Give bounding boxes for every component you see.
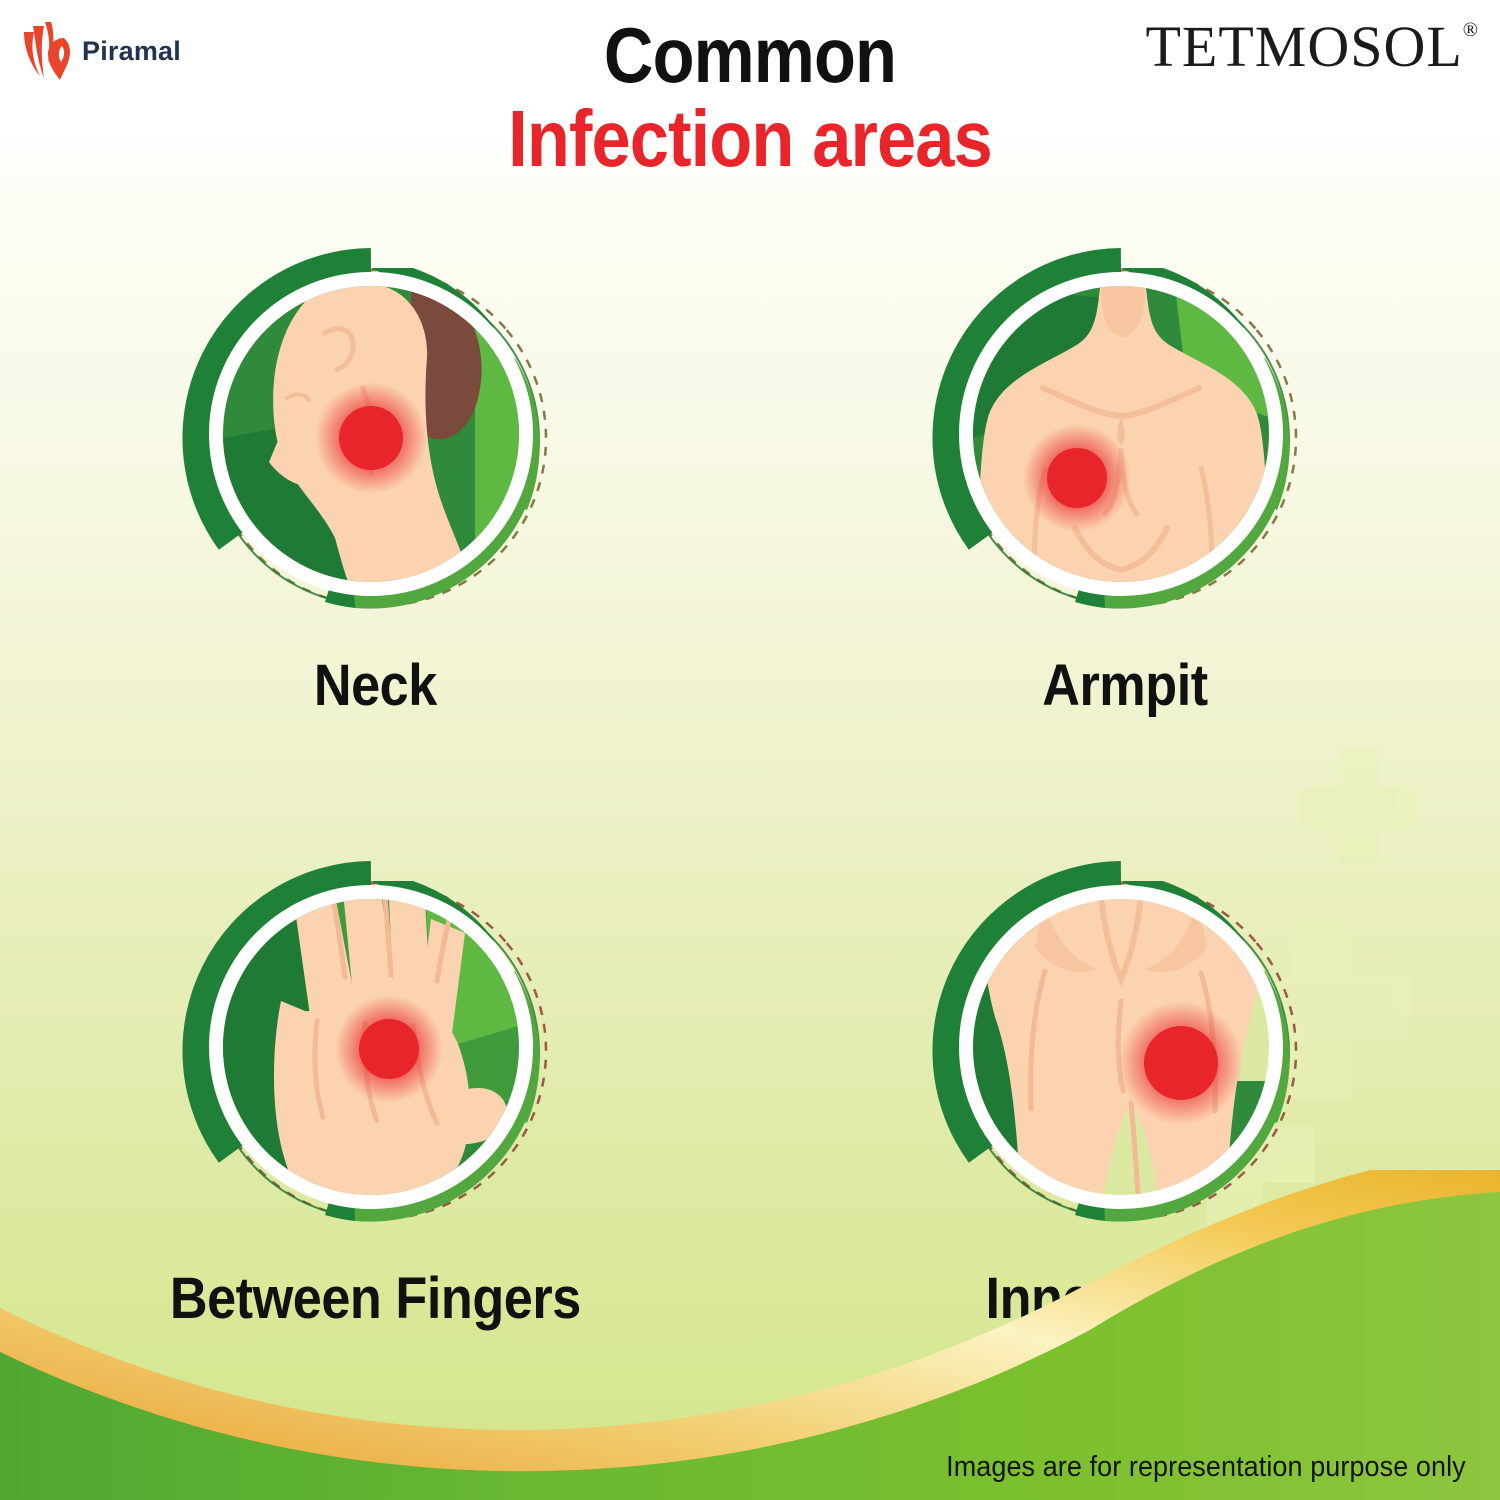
neck-badge <box>175 238 575 638</box>
grid-row-1: Neck <box>0 238 1500 719</box>
card-armpit[interactable]: Armpit <box>750 238 1500 719</box>
armpit-badge <box>925 238 1325 638</box>
infection-areas-grid: Neck <box>0 238 1500 1332</box>
disclaimer-text: Images are for representation purpose on… <box>946 1451 1466 1484</box>
title-line-1: Common <box>90 16 1410 96</box>
page-title: Common Infection areas <box>0 16 1500 179</box>
card-neck[interactable]: Neck <box>0 238 750 719</box>
card-label-armpit: Armpit <box>1042 652 1208 719</box>
title-line-2: Infection areas <box>90 98 1410 180</box>
infographic-poster: Piramal TETMOSOL ® Common Infection area… <box>0 0 1500 1500</box>
card-label-neck: Neck <box>314 652 437 719</box>
armpit-illustration-icon <box>925 238 1325 638</box>
neck-illustration-icon <box>175 238 575 638</box>
